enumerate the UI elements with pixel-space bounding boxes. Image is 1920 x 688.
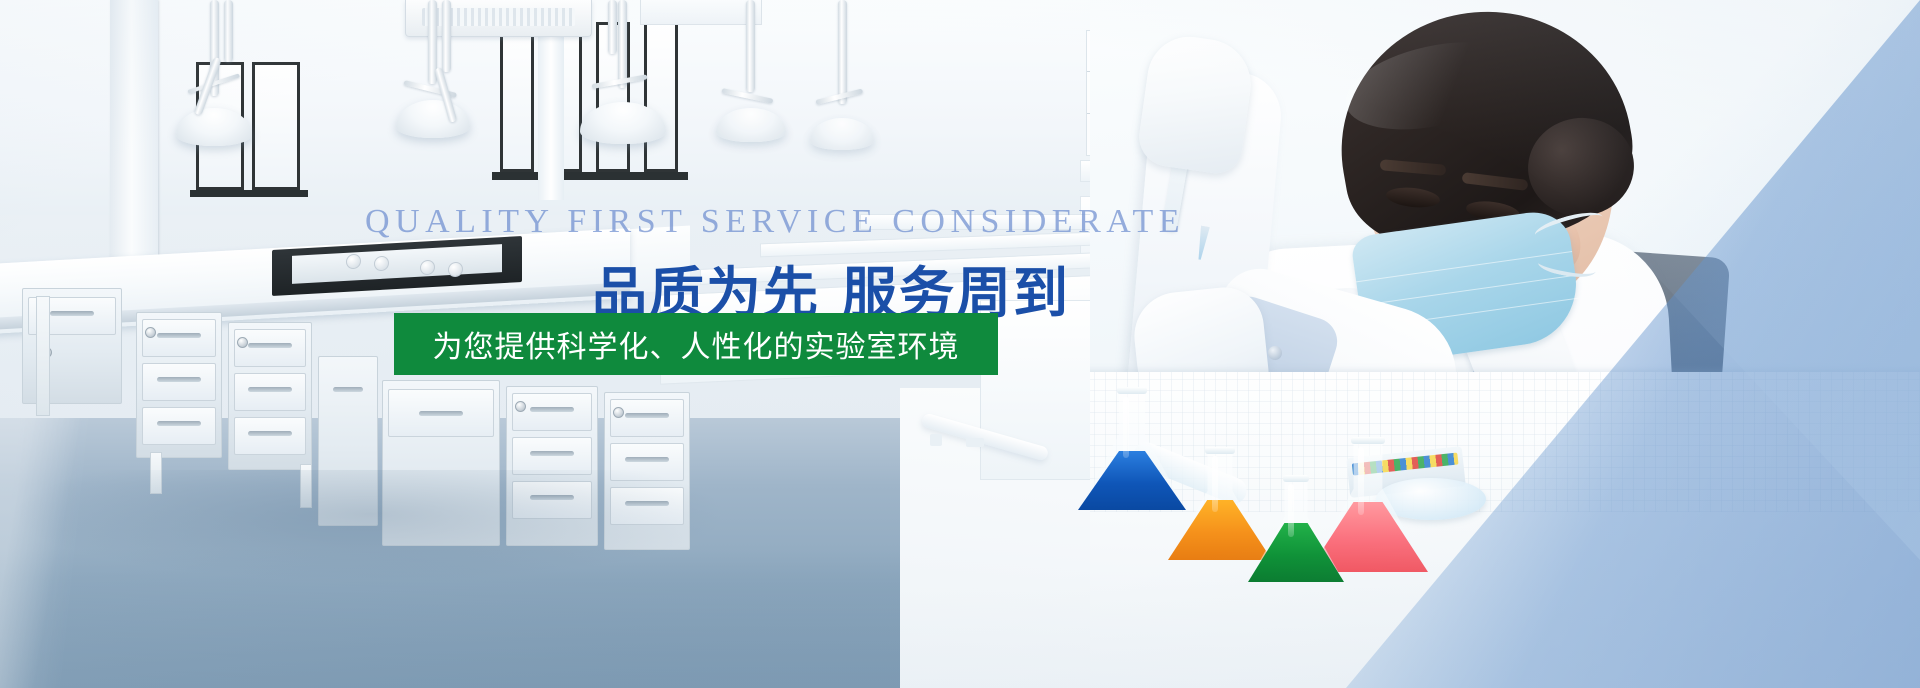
small-lab-item [930, 434, 942, 446]
window-pane [252, 62, 300, 190]
subtitle-green-bar: 为您提供科学化、人性化的实验室环境 [394, 313, 998, 375]
structural-column [110, 0, 158, 262]
bench-drawer-stack [228, 322, 312, 470]
lab-technician-photo [1090, 0, 1920, 688]
erlenmeyer-flask-green [1248, 480, 1344, 582]
window-sill [492, 172, 688, 180]
bench-leg [36, 296, 50, 416]
small-lab-item [966, 438, 984, 447]
window-pane [500, 22, 534, 172]
background-bench [860, 214, 1120, 230]
subtitle-text: 为您提供科学化、人性化的实验室环境 [433, 322, 960, 366]
cuff-button [1268, 346, 1282, 360]
bench-drawer-stack [136, 312, 222, 458]
window-sill [190, 190, 308, 197]
bench-floor-shadow [20, 470, 720, 580]
window-pane [644, 22, 678, 172]
ceiling-ac-unit [640, 0, 762, 25]
hero-banner: QUALITY FIRST SERVICE CONSIDERATE 品质为先服务… [0, 0, 1920, 688]
